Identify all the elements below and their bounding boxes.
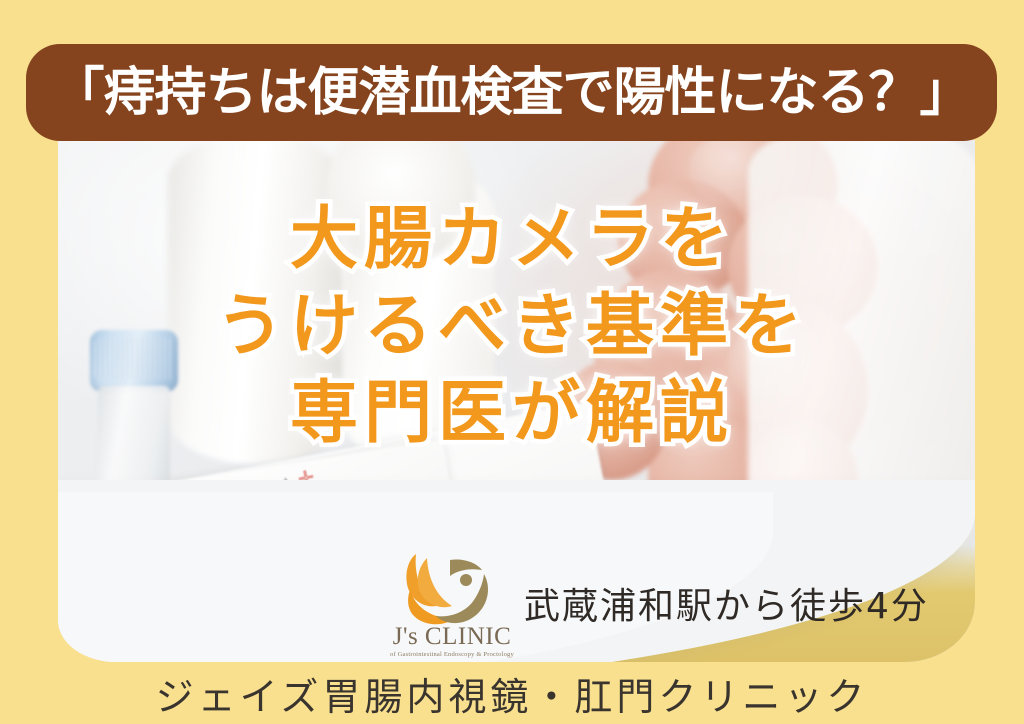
toilet-paper-roll-left	[168, 140, 343, 464]
clinic-name-text: ジェイズ胃腸内視鏡・肛門クリニック	[0, 666, 1024, 721]
access-text: 武蔵浦和駅から徒歩4分	[524, 577, 929, 629]
poster-canvas: FOB Test✛ FOB Test✛ 「痔持ちは便潜血検査で陽性になる？」 大…	[0, 0, 1024, 724]
logo-name-text: J's CLINIC	[388, 624, 516, 649]
js-clinic-bird-mark-icon	[396, 548, 504, 630]
banner-title-text: 「痔持ちは便潜血検査で陽性になる？」	[52, 67, 970, 119]
title-banner: 「痔持ちは便潜血検査で陽性になる？」	[26, 44, 997, 141]
specimen-cap	[90, 330, 178, 392]
logo-subtitle-text: of Gastrointestinal Endoscopy & Proctolo…	[388, 651, 516, 658]
clinic-logo: J's CLINIC of Gastrointestinal Endoscopy…	[388, 548, 516, 666]
